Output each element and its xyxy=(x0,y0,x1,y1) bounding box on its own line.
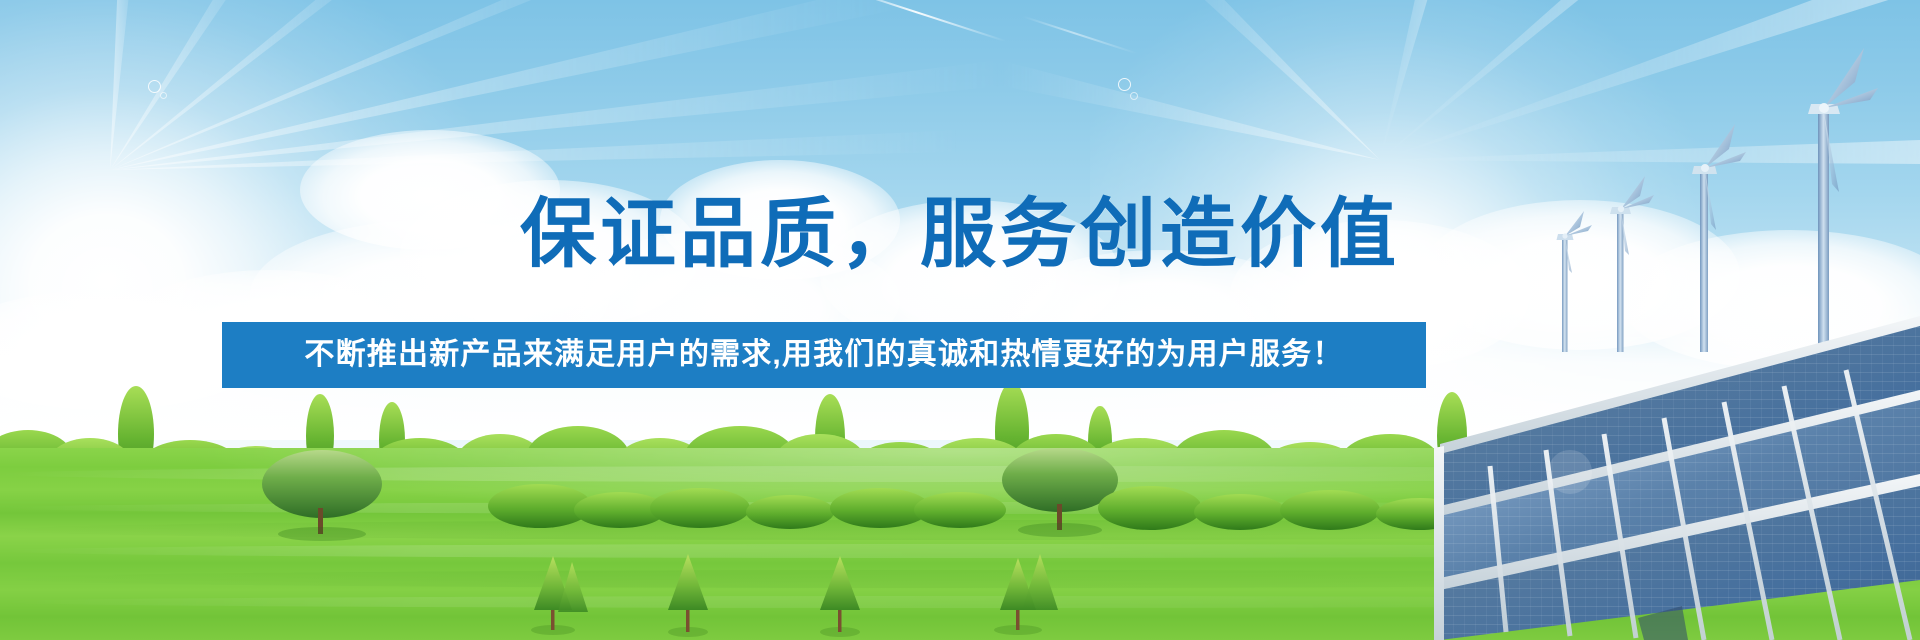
page-title: 保证品质，服务创造价值 xyxy=(0,192,1920,278)
subtitle-banner: 不断推出新产品来满足用户的需求,用我们的真诚和热情更好的为用户服务！ xyxy=(222,322,1426,388)
lens-flare-icon xyxy=(1130,92,1138,100)
shrub-icon xyxy=(488,484,1464,530)
tree-icon xyxy=(1002,448,1118,537)
sapling-icon xyxy=(994,554,1058,635)
lens-flare-icon xyxy=(1118,78,1131,91)
hero-banner: 保证品质，服务创造价值 不断推出新产品来满足用户的需求,用我们的真诚和热情更好的… xyxy=(0,0,1920,640)
tree-icon xyxy=(262,450,382,541)
subtitle-text: 不断推出新产品来满足用户的需求,用我们的真诚和热情更好的为用户服务！ xyxy=(304,338,1343,372)
solar-panel-array xyxy=(1420,300,1920,640)
sapling-icon xyxy=(668,554,708,637)
sapling-icon xyxy=(820,556,860,637)
lens-flare-icon xyxy=(148,80,161,93)
sapling-icon xyxy=(531,556,588,635)
lens-flare-icon xyxy=(160,92,167,99)
